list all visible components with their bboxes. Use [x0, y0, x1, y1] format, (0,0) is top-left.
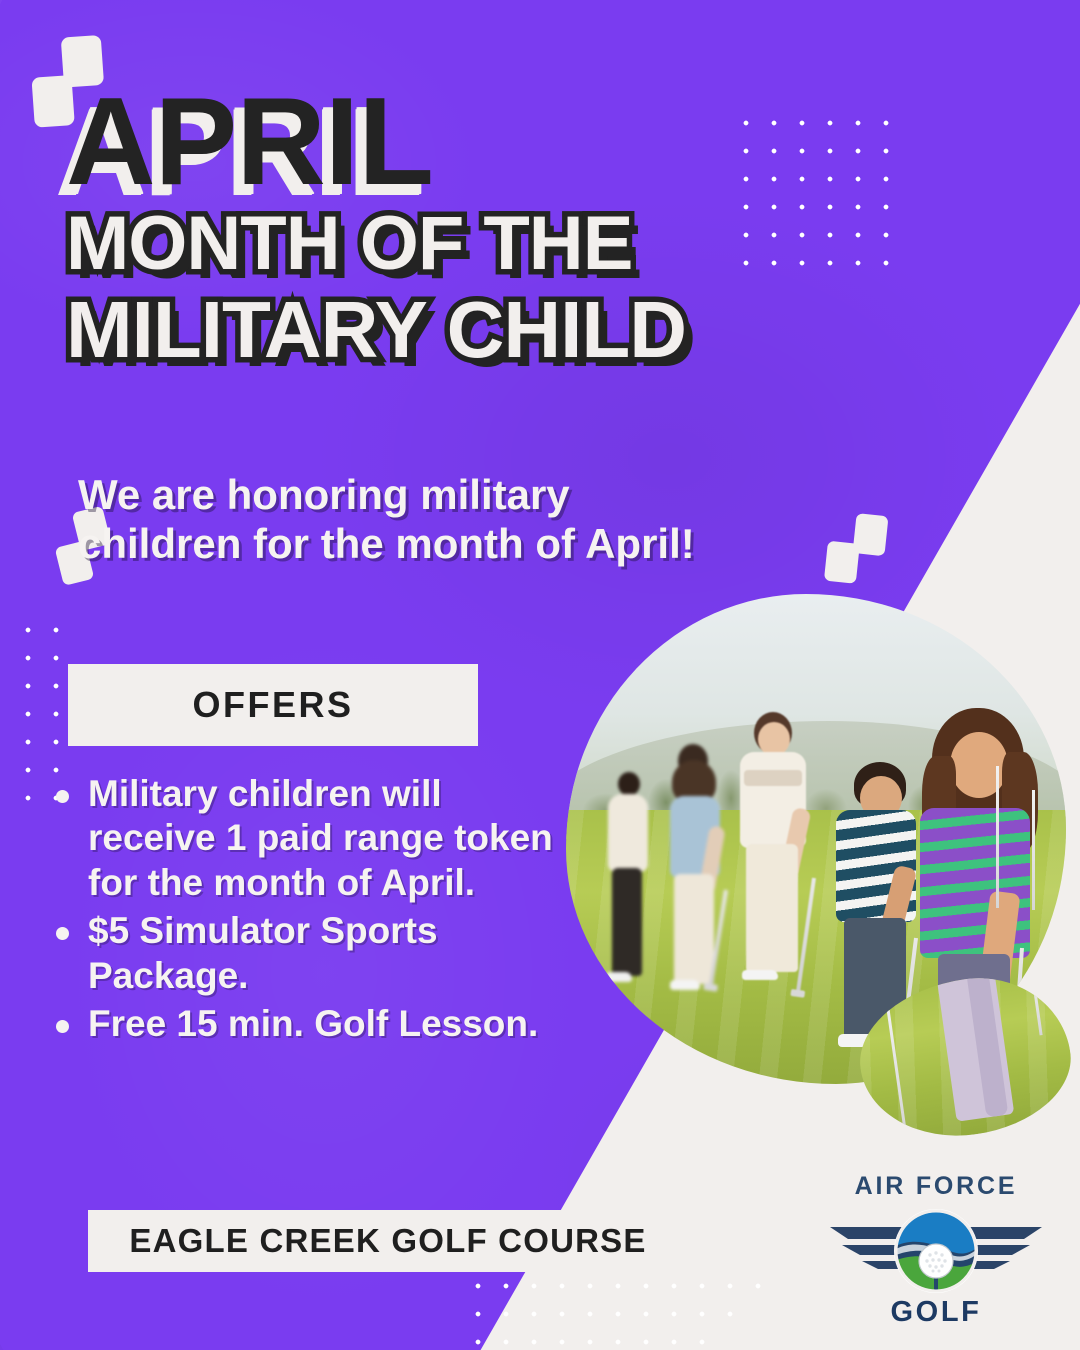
headline-line-april: APRIL [66, 84, 856, 202]
logo-bottom-text: GOLF [891, 1296, 982, 1329]
list-item: Military children will receive 1 paid ra… [44, 772, 564, 905]
winged-golf-ball-emblem-icon [828, 1203, 1044, 1295]
offers-list: Military children will receive 1 paid ra… [44, 772, 564, 1050]
page-title: APRIL MONTH OF THE MILITARY CHILD [66, 84, 856, 368]
headline-line-month-of-the: MONTH OF THE [66, 208, 856, 280]
offers-banner: OFFERS [68, 664, 478, 746]
subtitle-text: We are honoring military children for th… [78, 470, 698, 568]
headline-line-military-child: MILITARY CHILD [66, 292, 856, 368]
list-item: $5 Simulator Sports Package. [44, 909, 564, 998]
air-force-golf-logo: AIR FORCE [828, 1172, 1044, 1340]
logo-top-text: AIR FORCE [855, 1172, 1018, 1201]
course-name-label: EAGLE CREEK GOLF COURSE [129, 1222, 646, 1260]
poster-canvas: APRIL MONTH OF THE MILITARY CHILD We are… [0, 0, 1080, 1350]
offers-banner-label: OFFERS [192, 684, 353, 726]
list-item: Free 15 min. Golf Lesson. [44, 1002, 564, 1046]
photo-putting-green-detail [850, 966, 1080, 1149]
course-name-banner: EAGLE CREEK GOLF COURSE [88, 1210, 688, 1272]
zigzag-accent-icon [805, 502, 891, 598]
